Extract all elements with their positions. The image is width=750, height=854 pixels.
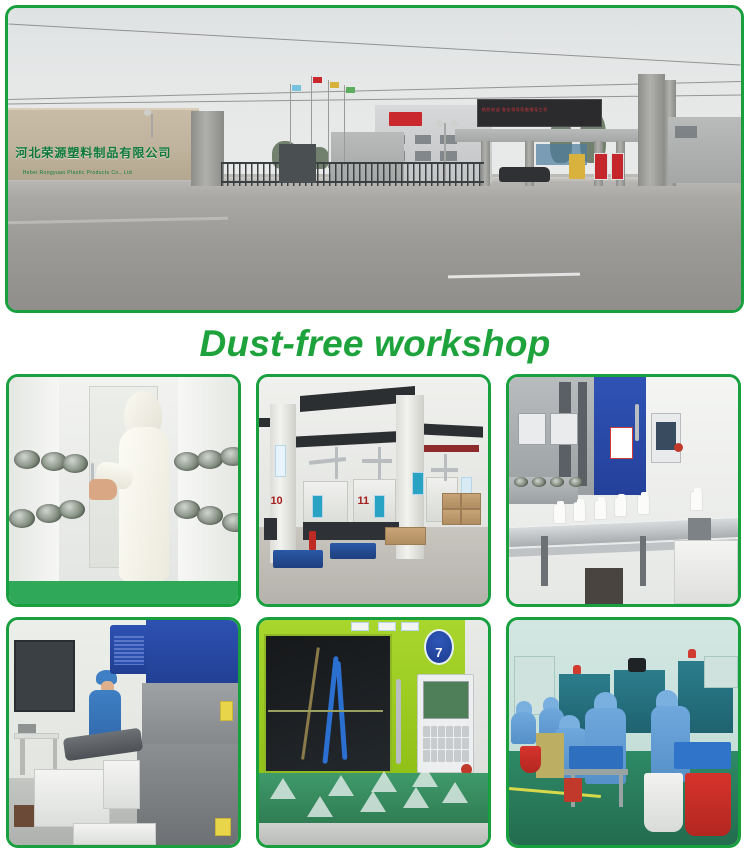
conveyor-edge — [259, 823, 488, 846]
led-display-board: 热烈欢迎 各位领导莅临指导工作 — [477, 99, 602, 128]
tie-bar — [268, 710, 383, 712]
lamp-post — [151, 114, 153, 138]
machine-vent — [114, 634, 144, 666]
plastic-bottle — [553, 504, 566, 524]
carton-stack — [442, 509, 460, 525]
cleanroom-scene — [509, 620, 738, 845]
molded-cone-part — [307, 796, 333, 817]
company-sign-english: Hebei Rongyuan Plastic Products Co., Ltd — [23, 170, 192, 176]
blow-molding-line-photo — [506, 374, 741, 607]
white-crate — [34, 769, 110, 828]
molded-cone-part — [442, 782, 468, 803]
safety-poster — [374, 495, 385, 518]
table-leg — [20, 739, 25, 775]
street-lamp-head — [436, 120, 443, 127]
blue-crate — [569, 746, 624, 769]
conveyor-support — [541, 536, 548, 586]
machine-sticker — [401, 622, 419, 631]
keypad-key[interactable] — [454, 726, 461, 737]
window — [440, 151, 456, 161]
keypad-key[interactable] — [431, 738, 438, 749]
conveyor-support — [640, 536, 647, 586]
column-number-10: 10 — [270, 495, 282, 507]
overhead-camera — [628, 658, 646, 672]
flag-pole — [344, 85, 345, 167]
keypad[interactable] — [423, 726, 469, 762]
keypad-key[interactable] — [423, 726, 430, 737]
mold-window — [518, 413, 545, 445]
operator-scene — [9, 620, 238, 845]
molded-cone-part — [328, 775, 354, 796]
white-bucket — [644, 773, 683, 832]
blue-pallet — [273, 550, 323, 568]
plastic-bottle — [573, 502, 586, 522]
machine-number-badge: 7 — [424, 629, 454, 665]
air-shower-photo — [6, 374, 241, 607]
air-nozzle — [9, 509, 35, 528]
carton-stack — [442, 493, 460, 509]
robot-arm — [362, 459, 392, 463]
warning-beacon — [573, 665, 581, 674]
mold-cavity — [569, 477, 583, 487]
molded-cone-part — [270, 778, 296, 799]
keypad-key[interactable] — [438, 726, 445, 737]
caution-label — [215, 818, 231, 836]
white-crate — [103, 760, 140, 810]
hero-scene: 河北荣源塑料制品有限公司 Hebei Rongyuan Plastic Prod… — [8, 8, 741, 310]
air-nozzle — [14, 450, 40, 469]
page-root: 河北荣源塑料制品有限公司 Hebei Rongyuan Plastic Prod… — [0, 0, 750, 854]
red-stool — [564, 778, 582, 803]
keypad-key[interactable] — [454, 738, 461, 749]
green-injection-machine-photo: 7 — [256, 617, 491, 848]
wall-monitor — [14, 640, 76, 712]
air-nozzle — [62, 454, 88, 473]
gate-pillar — [638, 74, 664, 186]
machine-handle — [635, 404, 639, 440]
white-tote-bin — [674, 540, 738, 604]
flag — [346, 87, 355, 93]
plastic-bottle — [614, 497, 627, 517]
plastic-bottle — [690, 491, 703, 511]
molding-workshop-photo: 10 11 — [256, 374, 491, 607]
blow-molding-scene — [509, 377, 738, 604]
machine-warning-label — [610, 427, 633, 459]
red-banner — [611, 153, 624, 180]
molded-cone-part — [403, 787, 429, 808]
robot-arm-mast — [335, 447, 338, 479]
red-bucket — [520, 746, 541, 773]
hmi-screen — [423, 681, 469, 719]
equipment-box — [585, 568, 624, 604]
keypad-key[interactable] — [462, 726, 469, 737]
green-floor — [9, 581, 238, 604]
worker-coverall — [511, 712, 536, 744]
bench-leg — [619, 775, 624, 807]
keypad-key[interactable] — [438, 738, 445, 749]
machine-sticker — [378, 622, 396, 631]
keypad-key[interactable] — [431, 726, 438, 737]
safety-poster — [312, 495, 323, 518]
molded-cone-part — [371, 771, 397, 792]
keypad-key[interactable] — [462, 738, 469, 749]
street-lamp-head — [451, 120, 458, 127]
flag-pole — [328, 80, 329, 168]
flag — [292, 85, 301, 91]
keypad-key[interactable] — [423, 738, 430, 749]
mold-cavity — [550, 477, 564, 487]
white-crate — [73, 823, 155, 846]
window — [415, 151, 431, 161]
robot-arm-mast — [444, 454, 447, 481]
air-nozzle — [197, 450, 223, 469]
air-nozzle — [174, 500, 200, 519]
warning-beacon — [688, 649, 696, 658]
keypad-key[interactable] — [454, 750, 461, 761]
air-shower-side-panel — [178, 377, 238, 604]
emergency-stop-button — [674, 443, 683, 452]
green-machine-scene: 7 — [259, 620, 488, 845]
mold-cavity — [514, 477, 528, 487]
desk-equipment — [18, 724, 36, 733]
keypad-key[interactable] — [446, 738, 453, 749]
mold-cavity — [532, 477, 546, 487]
coverall-body — [119, 427, 169, 581]
gate-pillar — [191, 111, 224, 187]
blue-crate — [674, 742, 731, 769]
section-title: Dust-free workshop — [0, 318, 750, 370]
gate-panel — [279, 144, 316, 183]
column-number-11: 11 — [357, 495, 369, 507]
flag — [330, 82, 339, 88]
air-shower-side-panel — [9, 377, 59, 604]
mold-window — [550, 413, 577, 445]
factory-entrance-photo: 河北荣源塑料制品有限公司 Hebei Rongyuan Plastic Prod… — [5, 5, 744, 313]
molded-cone-part — [360, 791, 386, 812]
operator-station-photo — [6, 617, 241, 848]
machine-door-handle — [396, 679, 401, 765]
equipment-box — [264, 518, 278, 541]
panel-screen — [656, 422, 677, 449]
yellow-board — [569, 154, 585, 178]
plastic-bottle — [594, 500, 607, 520]
window — [415, 135, 431, 145]
machine-column — [578, 382, 587, 486]
carton-stack — [461, 509, 482, 525]
keypad-key[interactable] — [431, 750, 438, 761]
fire-extinguisher — [309, 531, 316, 549]
led-display-text: 热烈欢迎 各位领导莅临指导工作 — [482, 107, 597, 113]
keypad-key[interactable] — [462, 750, 469, 761]
road — [8, 174, 741, 310]
cleanroom-assembly-photo — [506, 617, 741, 848]
flag — [313, 77, 322, 83]
workshop-scene: 10 11 — [259, 377, 488, 604]
gate-rail — [221, 181, 485, 183]
machine-sticker — [351, 622, 369, 631]
company-logo — [389, 112, 422, 126]
carton-stack — [385, 527, 426, 545]
safety-poster — [275, 445, 286, 477]
overhead-crane — [419, 445, 479, 452]
keypad-key[interactable] — [438, 750, 445, 761]
safety-poster — [412, 472, 423, 495]
air-nozzle — [174, 452, 200, 471]
red-bucket — [685, 773, 731, 836]
gate-rail — [221, 162, 485, 164]
keypad-key[interactable] — [446, 750, 453, 761]
keypad-key[interactable] — [423, 750, 430, 761]
hand — [89, 479, 116, 499]
caution-label — [220, 701, 234, 721]
company-sign-chinese: 河北荣源塑料制品有限公司 — [15, 144, 184, 161]
carton-stack — [461, 493, 482, 509]
robot-arm-mast — [378, 447, 381, 479]
partition-panel — [704, 656, 738, 688]
car — [499, 167, 550, 182]
molded-cone-part — [412, 766, 438, 787]
plastic-bottle — [637, 495, 650, 515]
blue-pallet — [330, 543, 376, 559]
red-banner — [594, 153, 607, 180]
air-nozzle — [59, 500, 85, 519]
keypad-key[interactable] — [446, 726, 453, 737]
stool — [14, 805, 35, 828]
blue-molding-machine — [146, 620, 238, 688]
air-shower-scene — [9, 377, 238, 604]
work-bench — [564, 769, 628, 776]
window — [675, 126, 697, 138]
work-table — [14, 733, 60, 740]
